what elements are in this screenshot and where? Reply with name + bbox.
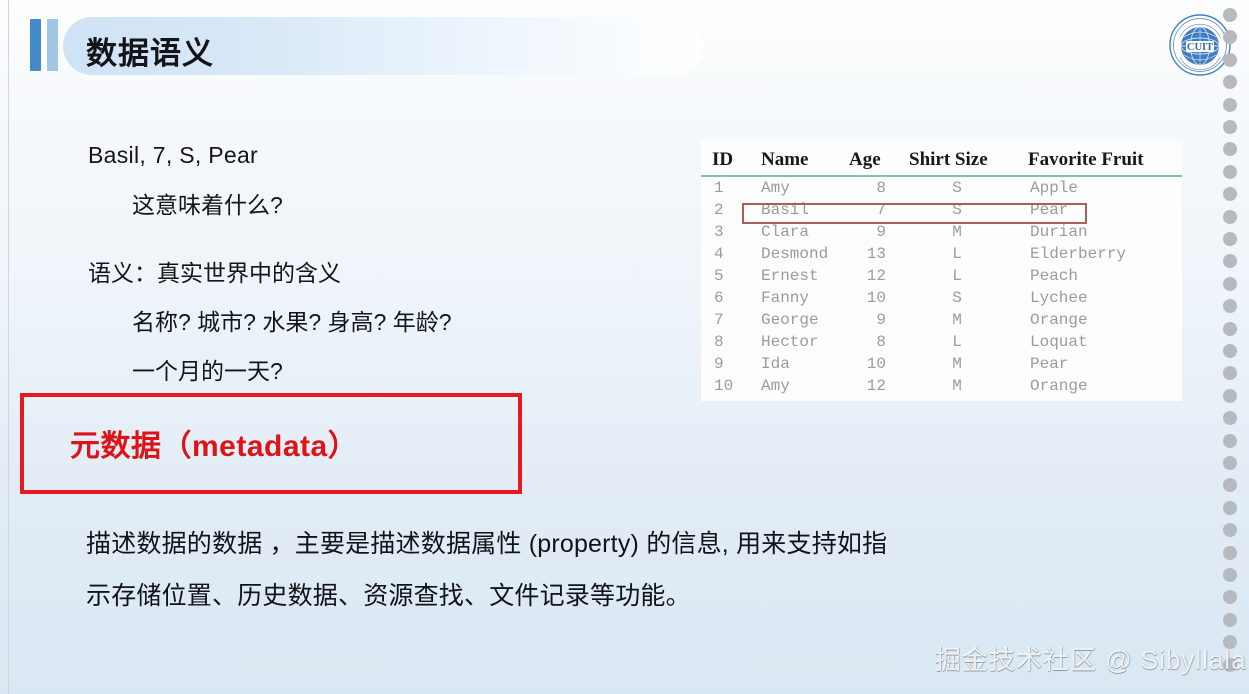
metadata-description-paragraph: 描述数据的数据 ，主要是描述数据属性 (property) 的信息, 用来支持如… <box>86 518 1146 622</box>
question-day-of-month: 一个月的一天? <box>132 355 648 387</box>
title-accent-bar-light <box>47 19 58 71</box>
table-cell: 8 <box>701 331 749 353</box>
rail-dot <box>1223 53 1237 67</box>
rail-dot <box>1223 501 1237 515</box>
rail-dot <box>1223 546 1237 560</box>
page-title: 数据语义 <box>86 28 214 73</box>
table-cell: Orange <box>1012 375 1182 397</box>
paragraph-line-1: 描述数据的数据 ，主要是描述数据属性 (property) 的信息, 用来支持如… <box>86 518 1146 570</box>
table-row: 10Amy12MOrange <box>701 375 1182 397</box>
rail-dot <box>1223 366 1237 380</box>
slide-header: 数据语义 <box>0 13 1160 75</box>
sample-data-table-card: ID Name Age Shirt Size Favorite Fruit 1A… <box>701 141 1182 401</box>
table-cell: 10 <box>842 353 902 375</box>
table-cell: Basil <box>749 199 842 221</box>
table-cell: 9 <box>842 309 902 331</box>
table-cell: Pear <box>1012 199 1182 221</box>
table-cell: Clara <box>749 221 842 243</box>
page-edge-rule <box>8 0 9 694</box>
table-cell: 3 <box>701 221 749 243</box>
rail-dot <box>1223 165 1237 179</box>
table-cell: M <box>902 375 1012 397</box>
rail-dot <box>1223 568 1237 582</box>
table-header-id: ID <box>701 141 749 176</box>
rail-dot <box>1223 30 1237 44</box>
table-row: 4Desmond13LElderberry <box>701 243 1182 265</box>
table-cell: Desmond <box>749 243 842 265</box>
table-row: 8Hector8LLoquat <box>701 331 1182 353</box>
rail-dot <box>1223 120 1237 134</box>
table-cell: 1 <box>701 176 749 199</box>
table-cell: 8 <box>842 331 902 353</box>
table-cell: 8 <box>842 176 902 199</box>
table-cell: Peach <box>1012 265 1182 287</box>
table-header-favorite-fruit: Favorite Fruit <box>1012 141 1182 176</box>
table-row: 3Clara9MDurian <box>701 221 1182 243</box>
table-cell: Elderberry <box>1012 243 1182 265</box>
table-cell: Amy <box>749 375 842 397</box>
rail-dot <box>1223 434 1237 448</box>
table-cell: M <box>902 353 1012 375</box>
metadata-callout-box: 元数据（metadata） <box>20 393 522 494</box>
table-cell: 6 <box>701 287 749 309</box>
table-cell: S <box>902 199 1012 221</box>
rail-dot <box>1223 478 1237 492</box>
table-cell: L <box>902 331 1012 353</box>
table-cell: S <box>902 176 1012 199</box>
slide-canvas: 数据语义 CUIT Basil, 7, S, Pear 这意味着什么? 语义：真… <box>0 0 1249 694</box>
rail-dot <box>1223 344 1237 358</box>
svg-text:CUIT: CUIT <box>1187 42 1213 53</box>
metadata-label: 元数据（metadata） <box>70 421 358 465</box>
rail-dot <box>1223 523 1237 537</box>
question-attributes: 名称? 城市? 水果? 身高? 年龄? <box>132 306 648 338</box>
rail-dot <box>1223 142 1237 156</box>
rail-dot <box>1223 277 1237 291</box>
table-cell: 7 <box>842 199 902 221</box>
binding-dot-rail <box>1220 8 1242 694</box>
table-cell: Amy <box>749 176 842 199</box>
table-row: 6Fanny10SLychee <box>701 287 1182 309</box>
table-body: 1Amy8SApple2Basil7SPear3Clara9MDurian4De… <box>701 176 1182 397</box>
table-header-age: Age <box>842 141 902 176</box>
table-row: 2Basil7SPear <box>701 199 1182 221</box>
rail-dot <box>1223 75 1237 89</box>
example-record-line: Basil, 7, S, Pear <box>88 140 648 170</box>
table-cell: M <box>902 309 1012 331</box>
rail-dot <box>1223 254 1237 268</box>
table-cell: 4 <box>701 243 749 265</box>
left-text-column: Basil, 7, S, Pear 这意味着什么? 语义：真实世界中的含义 名称… <box>88 140 648 387</box>
table-cell: Orange <box>1012 309 1182 331</box>
table-cell: S <box>902 287 1012 309</box>
table-cell: Hector <box>749 331 842 353</box>
table-header-shirt-size: Shirt Size <box>902 141 1012 176</box>
table-cell: Ida <box>749 353 842 375</box>
sample-data-table: ID Name Age Shirt Size Favorite Fruit 1A… <box>701 141 1182 397</box>
rail-dot <box>1223 210 1237 224</box>
table-cell: 5 <box>701 265 749 287</box>
table-row: 1Amy8SApple <box>701 176 1182 199</box>
table-cell: 10 <box>842 287 902 309</box>
table-cell: Fanny <box>749 287 842 309</box>
table-header-row: ID Name Age Shirt Size Favorite Fruit <box>701 141 1182 176</box>
rail-dot <box>1223 322 1237 336</box>
watermark-text: 掘金技术社区 @ Sibyllala <box>935 640 1247 677</box>
rail-dot <box>1223 411 1237 425</box>
table-cell: 9 <box>701 353 749 375</box>
rail-dot <box>1223 187 1237 201</box>
table-cell: 7 <box>701 309 749 331</box>
table-cell: 12 <box>842 375 902 397</box>
paragraph-line-2: 示存储位置、历史数据、资源查找、文件记录等功能。 <box>86 570 1146 622</box>
table-row: 5Ernest12LPeach <box>701 265 1182 287</box>
table-cell: Lychee <box>1012 287 1182 309</box>
semantics-definition: 语义：真实世界中的含义 <box>88 257 648 289</box>
table-cell: 12 <box>842 265 902 287</box>
table-row: 9Ida10MPear <box>701 353 1182 375</box>
rail-dot <box>1223 613 1237 627</box>
rail-dot <box>1223 299 1237 313</box>
rail-dot <box>1223 590 1237 604</box>
table-cell: L <box>902 243 1012 265</box>
table-cell: Pear <box>1012 353 1182 375</box>
rail-dot <box>1223 389 1237 403</box>
table-cell: George <box>749 309 842 331</box>
table-cell: 2 <box>701 199 749 221</box>
table-cell: 13 <box>842 243 902 265</box>
table-cell: M <box>902 221 1012 243</box>
rail-dot <box>1223 232 1237 246</box>
table-cell: 10 <box>701 375 749 397</box>
table-cell: Apple <box>1012 176 1182 199</box>
table-cell: 9 <box>842 221 902 243</box>
rail-dot <box>1223 8 1237 22</box>
title-accent-bar-dark <box>30 19 41 71</box>
question-meaning: 这意味着什么? <box>132 190 648 220</box>
table-cell: Loquat <box>1012 331 1182 353</box>
table-cell: Durian <box>1012 221 1182 243</box>
table-header-name: Name <box>749 141 842 176</box>
rail-dot <box>1223 98 1237 112</box>
table-row: 7George9MOrange <box>701 309 1182 331</box>
table-cell: Ernest <box>749 265 842 287</box>
rail-dot <box>1223 456 1237 470</box>
table-cell: L <box>902 265 1012 287</box>
